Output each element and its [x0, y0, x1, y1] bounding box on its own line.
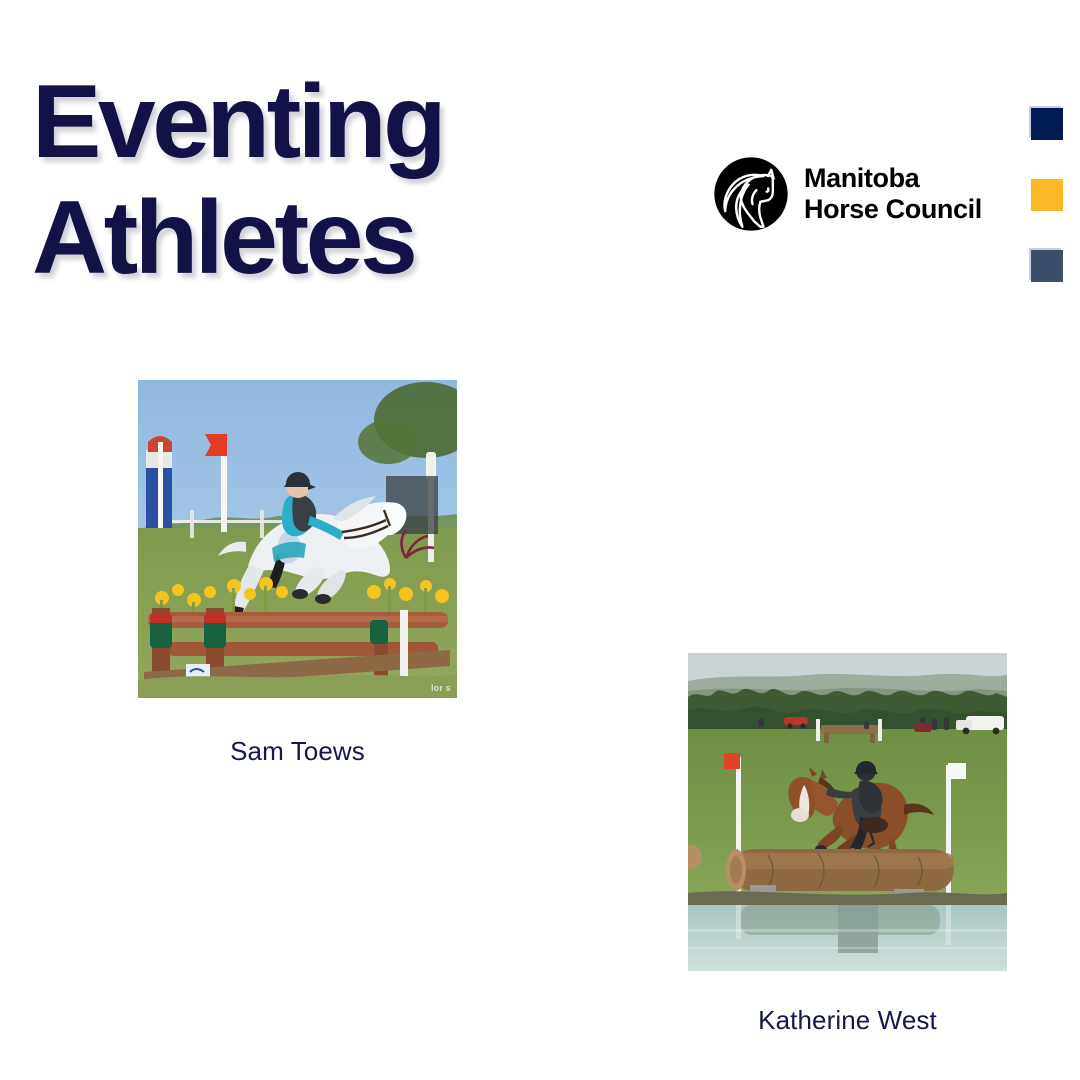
page-title: Eventing Athletes — [32, 72, 652, 290]
athlete-name: Katherine West — [688, 1005, 1007, 1036]
photo-watermark: lor s — [431, 683, 451, 693]
poster-canvas: Eventing Athletes — [0, 0, 1080, 1080]
brand-color-swatches — [1031, 108, 1080, 288]
title-line-1: Eventing — [32, 72, 652, 174]
logo-wordmark: Manitoba Horse Council — [804, 163, 982, 226]
horse-head-icon — [712, 155, 790, 233]
athlete-name: Sam Toews — [138, 736, 457, 767]
swatch-amber — [1031, 179, 1063, 211]
athlete-card: Katherine West — [688, 653, 1007, 1036]
manitoba-horse-council-logo: Manitoba Horse Council — [712, 155, 982, 233]
logo-line-1: Manitoba — [804, 163, 982, 194]
logo-line-2: Horse Council — [804, 194, 982, 225]
athlete-photo-show-jumping: lor s — [138, 380, 457, 698]
swatch-slate — [1031, 250, 1063, 282]
swatch-navy — [1031, 108, 1063, 140]
title-line-2: Athletes — [32, 188, 652, 290]
athlete-card: lor s Sam Toews — [138, 380, 457, 767]
athlete-photo-cross-country — [688, 653, 1007, 971]
